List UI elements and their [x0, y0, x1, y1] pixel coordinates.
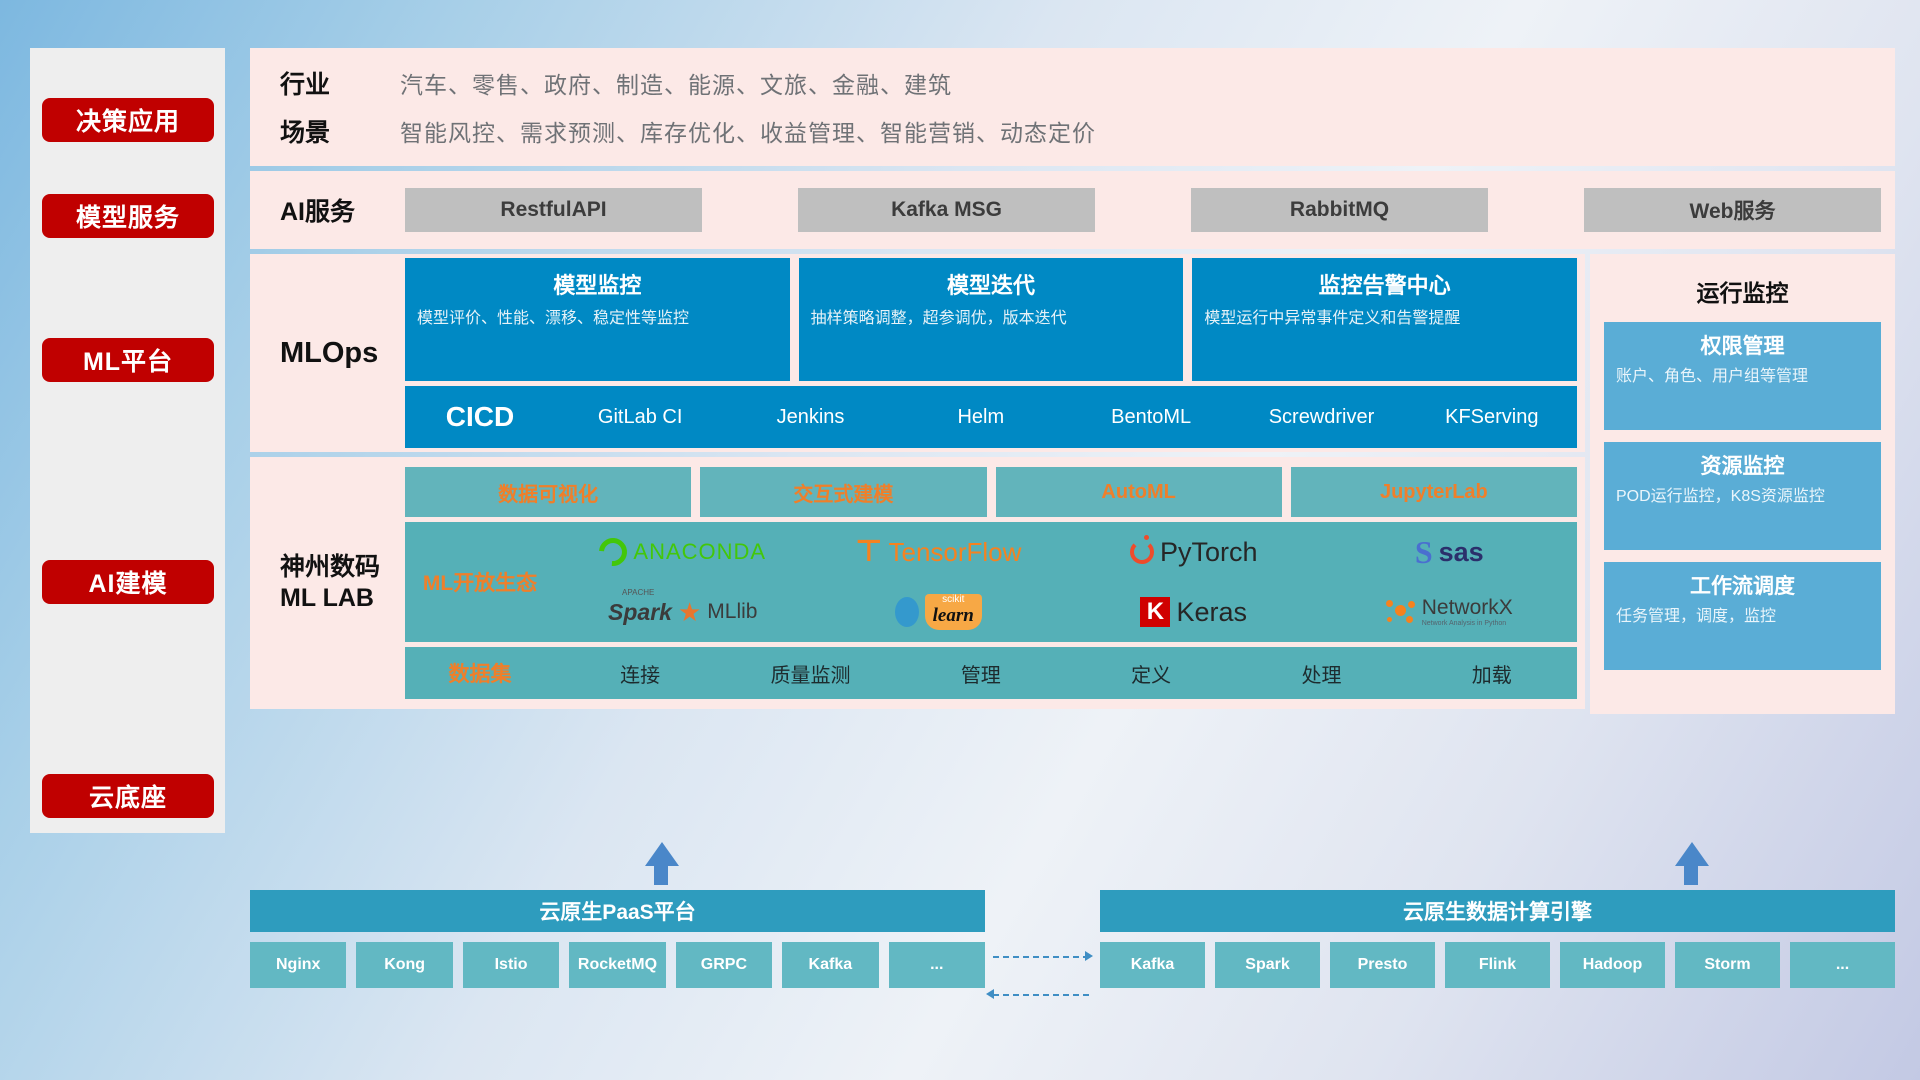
cloud-columns: 云原生PaaS平台 Nginx Kong Istio RocketMQ GRPC…	[250, 890, 1895, 988]
sas-swirl-icon: S	[1415, 534, 1433, 571]
decision-apps-rows: 行业 汽车、零售、政府、制造、能源、文旅、金融、建筑 场景 智能风控、需求预测、…	[280, 59, 1895, 155]
ml-lab-band: 神州数码 ML LAB 数据可视化 交互式建模 AutoML JupyterLa…	[250, 457, 1585, 709]
rail-item-model-service[interactable]: 模型服务	[42, 194, 214, 238]
main-column: 行业 汽车、零售、政府、制造、能源、文旅、金融、建筑 场景 智能风控、需求预测、…	[250, 48, 1895, 714]
rail-label: 云底座	[89, 778, 167, 814]
scikit-learn-logo: scikit learn	[895, 594, 982, 630]
mlops-band: MLOps 模型监控 模型评价、性能、漂移、稳定性等监控 模型迭代 抽样策略调整…	[250, 254, 1585, 452]
ai-service-band: AI服务 RestfulAPI Kafka MSG RabbitMQ Web服务	[250, 171, 1895, 249]
paas-chip-nginx[interactable]: Nginx	[250, 942, 346, 988]
logo-slot-tensorflow: ⊤ TensorFlow	[811, 537, 1067, 568]
tool-jupyterlab[interactable]: JupyterLab	[1291, 467, 1577, 517]
networkx-wordmark: NetworkX	[1422, 596, 1513, 619]
rail-item-cloud-base[interactable]: 云底座	[42, 774, 214, 818]
card-desc: 模型运行中异常事件定义和告警提醒	[1204, 308, 1565, 330]
logo-slot-anaconda: ANACONDA	[555, 538, 811, 566]
card-desc: 模型评价、性能、漂移、稳定性等监控	[417, 308, 778, 330]
logo-slot-spark-mllib: APACHE Spark ★ MLlib	[555, 597, 811, 628]
ai-service-label: AI服务	[280, 192, 405, 228]
cicd-title: CICD	[405, 401, 555, 433]
learn-text: learn	[933, 605, 974, 626]
platform-and-monitor-wrap: MLOps 模型监控 模型评价、性能、漂移、稳定性等监控 模型迭代 抽样策略调整…	[250, 254, 1895, 714]
runtime-monitor-panel: 运行监控 权限管理 账户、角色、用户组等管理 资源监控 POD运行监控，K8S资…	[1590, 254, 1895, 714]
runtime-monitor-title: 运行监控	[1604, 274, 1881, 308]
logo-slot-keras: K Keras	[1066, 597, 1322, 628]
arrow-stem-paas	[654, 865, 668, 885]
card-desc: 账户、角色、用户组等管理	[1616, 366, 1869, 388]
keras-wordmark: Keras	[1176, 597, 1247, 628]
dataset-item-quality-monitor[interactable]: 质量监测	[725, 659, 895, 688]
mllib-wordmark: MLlib	[707, 600, 757, 624]
cloud-connector-gap	[985, 890, 1100, 988]
decision-apps-band: 行业 汽车、零售、政府、制造、能源、文旅、金融、建筑 场景 智能风控、需求预测、…	[250, 48, 1895, 166]
dataset-title: 数据集	[405, 658, 555, 688]
engine-chip-flink[interactable]: Flink	[1445, 942, 1550, 988]
rail-item-ml-platform[interactable]: ML平台	[42, 338, 214, 382]
card-title: 工作流调度	[1616, 570, 1869, 600]
ml-lab-label-line1: 神州数码	[280, 552, 405, 583]
ai-service-box-kafka-msg[interactable]: Kafka MSG	[798, 188, 1095, 232]
logo-slot-sas: S sas	[1322, 534, 1578, 571]
scenario-label: 场景	[280, 113, 400, 149]
cicd-item-gitlab-ci[interactable]: GitLab CI	[555, 406, 725, 428]
rail-item-decision-apps[interactable]: 决策应用	[42, 98, 214, 142]
dataset-item-process[interactable]: 处理	[1236, 659, 1406, 688]
paas-header: 云原生PaaS平台	[250, 890, 985, 932]
industry-value: 汽车、零售、政府、制造、能源、文旅、金融、建筑	[400, 66, 952, 100]
logo-slot-networkx: NetworkX Network Analysis in Python	[1322, 597, 1578, 626]
arrow-up-engine-icon	[1675, 842, 1709, 866]
engine-chip-row: Kafka Spark Presto Flink Hadoop Storm ..…	[1100, 942, 1895, 988]
dash-arrow-left-icon	[986, 989, 994, 999]
spark-wordmark: Spark	[608, 599, 672, 625]
paas-chip-istio[interactable]: Istio	[463, 942, 559, 988]
scikit-text: scikit	[933, 595, 974, 605]
ai-service-boxes: RestfulAPI Kafka MSG RabbitMQ Web服务	[405, 188, 1895, 232]
card-title: 模型监控	[417, 268, 778, 300]
anaconda-wordmark: ANACONDA	[633, 539, 766, 565]
engine-column: 云原生数据计算引擎 Kafka Spark Presto Flink Hadoo…	[1100, 890, 1895, 988]
mlops-card-model-monitor[interactable]: 模型监控 模型评价、性能、漂移、稳定性等监控	[405, 258, 790, 381]
engine-chip-more[interactable]: ...	[1790, 942, 1895, 988]
monitor-card-workflow[interactable]: 工作流调度 任务管理，调度，监控	[1604, 562, 1881, 670]
card-title: 监控告警中心	[1204, 268, 1565, 300]
cicd-item-kfserving[interactable]: KFServing	[1407, 406, 1577, 428]
engine-chip-kafka[interactable]: Kafka	[1100, 942, 1205, 988]
ml-ecosystem-label: ML开放生态	[405, 567, 555, 597]
logo-slot-scikit-learn: scikit learn	[811, 594, 1067, 630]
mlops-cards: 模型监控 模型评价、性能、漂移、稳定性等监控 模型迭代 抽样策略调整，超参调优，…	[405, 258, 1577, 381]
paas-chip-kong[interactable]: Kong	[356, 942, 452, 988]
paas-chip-rocketmq[interactable]: RocketMQ	[569, 942, 665, 988]
dash-line-left	[993, 994, 1089, 996]
pytorch-logo: PyTorch	[1130, 537, 1258, 568]
sas-wordmark: sas	[1439, 537, 1484, 568]
tool-automl[interactable]: AutoML	[996, 467, 1282, 517]
card-desc: POD运行监控，K8S资源监控	[1616, 486, 1869, 508]
ml-lab-stack: 数据可视化 交互式建模 AutoML JupyterLab ML开放生态	[405, 467, 1585, 699]
ai-service-box-web-service[interactable]: Web服务	[1584, 188, 1881, 232]
mlops-card-alert-center[interactable]: 监控告警中心 模型运行中异常事件定义和告警提醒	[1192, 258, 1577, 381]
dataset-item-manage[interactable]: 管理	[896, 659, 1066, 688]
keras-logo: K Keras	[1140, 597, 1247, 628]
dataset-item-connect[interactable]: 连接	[555, 659, 725, 688]
mlops-card-model-iteration[interactable]: 模型迭代 抽样策略调整，超参调优，版本迭代	[799, 258, 1184, 381]
diagram-canvas: 决策应用 模型服务 ML平台 AI建模 云底座 行业 汽车、零售、政府、制造、能…	[0, 0, 1920, 1080]
dataset-item-define[interactable]: 定义	[1066, 659, 1236, 688]
scenario-value: 智能风控、需求预测、库存优化、收益管理、智能营销、动态定价	[400, 114, 1096, 148]
spark-star-icon: ★	[678, 597, 701, 628]
scikit-blob-icon	[895, 597, 919, 627]
ai-service-box-restfulapi[interactable]: RestfulAPI	[405, 188, 702, 232]
cicd-item-screwdriver[interactable]: Screwdriver	[1236, 406, 1406, 428]
dataset-item-load[interactable]: 加载	[1407, 659, 1577, 688]
rail-label: 模型服务	[76, 198, 180, 234]
ml-lab-label: 神州数码 ML LAB	[280, 552, 405, 615]
ml-ecosystem-row: ML开放生态 ANACONDA	[405, 522, 1577, 642]
logo-line-2: APACHE Spark ★ MLlib	[555, 582, 1577, 642]
anaconda-logo: ANACONDA	[599, 538, 766, 566]
ml-lab-tools: 数据可视化 交互式建模 AutoML JupyterLab	[405, 467, 1577, 517]
tool-interactive-modeling[interactable]: 交互式建模	[700, 467, 986, 517]
scenario-row: 场景 智能风控、需求预测、库存优化、收益管理、智能营销、动态定价	[280, 107, 1895, 155]
monitor-card-resource[interactable]: 资源监控 POD运行监控，K8S资源监控	[1604, 442, 1881, 550]
cicd-item-jenkins[interactable]: Jenkins	[725, 406, 895, 428]
networkx-graph-icon	[1386, 599, 1416, 625]
rail-label: ML平台	[83, 342, 173, 378]
cicd-item-bentoml[interactable]: BentoML	[1066, 406, 1236, 428]
logo-slot-pytorch: PyTorch	[1066, 537, 1322, 568]
ai-service-box-rabbitmq[interactable]: RabbitMQ	[1191, 188, 1488, 232]
paas-chip-row: Nginx Kong Istio RocketMQ GRPC Kafka ...	[250, 942, 985, 988]
dataset-row: 数据集 连接 质量监测 管理 定义 处理 加载	[405, 647, 1577, 699]
card-title: 权限管理	[1616, 330, 1869, 360]
cloud-base-section: 云原生PaaS平台 Nginx Kong Istio RocketMQ GRPC…	[250, 890, 1895, 988]
cicd-item-helm[interactable]: Helm	[896, 406, 1066, 428]
paas-chip-grpc[interactable]: GRPC	[676, 942, 772, 988]
pytorch-flame-icon	[1130, 540, 1154, 564]
card-title: 模型迭代	[811, 268, 1172, 300]
dash-arrow-right-icon	[1085, 951, 1093, 961]
rail-item-ai-modeling[interactable]: AI建模	[42, 560, 214, 604]
rail-label: 决策应用	[76, 102, 180, 138]
industry-label: 行业	[280, 65, 400, 101]
sas-logo: S sas	[1415, 534, 1484, 571]
spark-apache-text: APACHE	[622, 589, 654, 597]
engine-chip-presto[interactable]: Presto	[1330, 942, 1435, 988]
arrow-stem-engine	[1684, 865, 1698, 885]
networkx-logo: NetworkX Network Analysis in Python	[1386, 597, 1513, 626]
engine-header: 云原生数据计算引擎	[1100, 890, 1895, 932]
tensorflow-logo: ⊤ TensorFlow	[855, 537, 1021, 568]
tensorflow-wordmark: TensorFlow	[888, 537, 1021, 568]
spark-mllib-logo: APACHE Spark ★ MLlib	[608, 597, 757, 628]
engine-chip-spark[interactable]: Spark	[1215, 942, 1320, 988]
dash-line-right	[993, 956, 1089, 958]
scikit-pill-icon: scikit learn	[925, 594, 982, 630]
card-desc: 任务管理，调度，监控	[1616, 606, 1869, 628]
paas-column: 云原生PaaS平台 Nginx Kong Istio RocketMQ GRPC…	[250, 890, 985, 988]
card-title: 资源监控	[1616, 450, 1869, 480]
engine-chip-storm[interactable]: Storm	[1675, 942, 1780, 988]
tool-data-visualization[interactable]: 数据可视化	[405, 467, 691, 517]
mlops-stack: 模型监控 模型评价、性能、漂移、稳定性等监控 模型迭代 抽样策略调整，超参调优，…	[405, 258, 1585, 448]
monitor-card-permission[interactable]: 权限管理 账户、角色、用户组等管理	[1604, 322, 1881, 430]
keras-k-icon: K	[1140, 597, 1170, 627]
card-desc: 抽样策略调整，超参调优，版本迭代	[811, 308, 1172, 330]
paas-chip-more[interactable]: ...	[889, 942, 985, 988]
rail-label: AI建模	[88, 564, 167, 600]
platform-column: MLOps 模型监控 模型评价、性能、漂移、稳定性等监控 模型迭代 抽样策略调整…	[250, 254, 1585, 714]
pytorch-wordmark: PyTorch	[1160, 537, 1258, 568]
anaconda-ring-icon	[594, 532, 633, 571]
paas-chip-kafka[interactable]: Kafka	[782, 942, 878, 988]
ml-lab-label-line2: ML LAB	[280, 583, 405, 614]
tensorflow-mark-icon: ⊤	[855, 537, 882, 567]
arrow-up-paas-icon	[645, 842, 679, 866]
mlops-label: MLOps	[280, 337, 405, 370]
logo-line-1: ANACONDA ⊤ TensorFlow	[555, 522, 1577, 582]
left-rail: 决策应用 模型服务 ML平台 AI建模 云底座	[30, 48, 225, 833]
industry-row: 行业 汽车、零售、政府、制造、能源、文旅、金融、建筑	[280, 59, 1895, 107]
ml-ecosystem-logos: ANACONDA ⊤ TensorFlow	[555, 522, 1577, 642]
networkx-tagline: Network Analysis in Python	[1422, 620, 1513, 627]
engine-chip-hadoop[interactable]: Hadoop	[1560, 942, 1665, 988]
cicd-row: CICD GitLab CI Jenkins Helm BentoML Scre…	[405, 386, 1577, 448]
